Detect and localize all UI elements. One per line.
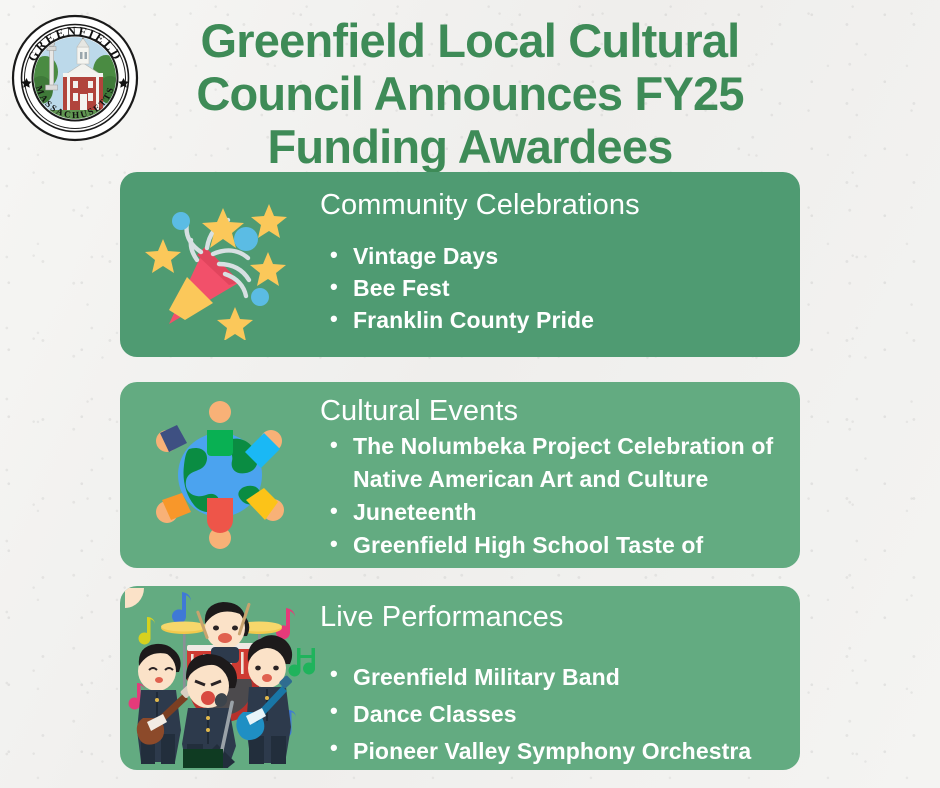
awardee-list: Greenfield Military Band Dance Classes P…: [320, 659, 790, 770]
card-title: Live Performances: [320, 600, 790, 634]
card-title: Cultural Events: [320, 394, 790, 428]
card-body: Cultural Events The Nolumbeka Project Ce…: [320, 382, 800, 568]
list-item: Bee Fest: [320, 272, 790, 304]
awardee-list: Vintage Days Bee Fest Franklin County Pr…: [320, 240, 790, 336]
rock-band-icon: [125, 588, 315, 768]
list-item: Greenfield Military Band: [320, 659, 790, 696]
list-item: Greenfield High School Taste of Cultures: [320, 529, 790, 568]
awardee-category-list: Community Celebrations Vintage Days Bee …: [0, 172, 940, 770]
list-item: Pioneer Valley Symphony Orchestra: [320, 733, 790, 770]
town-seal-icon: GREENFIELD MASSACHUSETTS: [11, 14, 139, 142]
singer: [182, 654, 237, 768]
seal-container: GREENFIELD MASSACHUSETTS: [0, 8, 150, 142]
card-title: Community Celebrations: [320, 188, 790, 222]
card-icon-container: [120, 586, 320, 770]
list-item: Franklin County Pride: [320, 304, 790, 336]
category-card-live-performances: Live Performances Greenfield Military Ba…: [120, 586, 800, 770]
infographic-page: GREENFIELD MASSACHUSETTS Greenfield Loca…: [0, 0, 940, 788]
header: GREENFIELD MASSACHUSETTS Greenfield Loca…: [0, 0, 940, 172]
card-icon-container: [120, 382, 320, 568]
globe-people-icon: [136, 395, 304, 555]
category-card-cultural-events: Cultural Events The Nolumbeka Project Ce…: [120, 382, 800, 568]
list-item: The Nolumbeka Project Celebration of Nat…: [320, 430, 790, 496]
page-title: Greenfield Local Cultural Council Announ…: [150, 14, 790, 173]
card-body: Live Performances Greenfield Military Ba…: [320, 586, 800, 770]
list-item: Juneteenth: [320, 496, 790, 529]
category-card-community-celebrations: Community Celebrations Vintage Days Bee …: [120, 172, 800, 357]
list-item: Vintage Days: [320, 240, 790, 272]
card-icon-container: [120, 172, 320, 357]
card-body: Community Celebrations Vintage Days Bee …: [320, 172, 800, 357]
awardee-list: The Nolumbeka Project Celebration of Nat…: [320, 430, 790, 568]
party-popper-icon: [135, 190, 305, 340]
title-container: Greenfield Local Cultural Council Announ…: [150, 8, 940, 173]
list-item: Dance Classes: [320, 696, 790, 733]
